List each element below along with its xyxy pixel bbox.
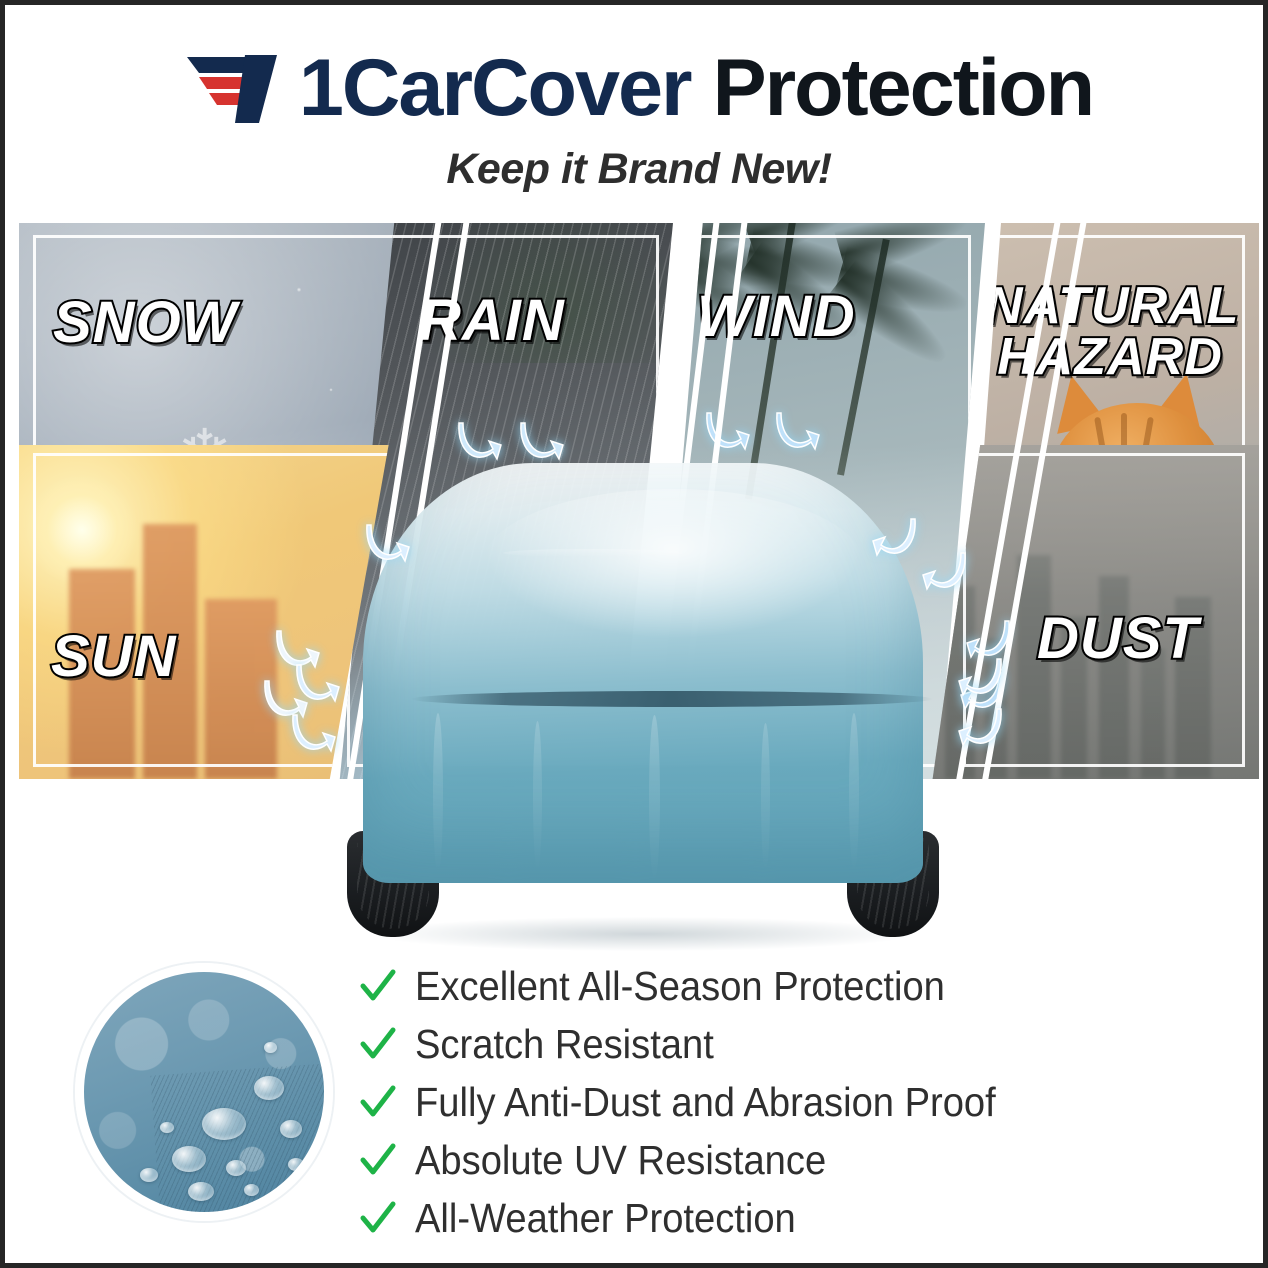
feature-text: All-Weather Protection — [415, 1198, 796, 1239]
list-item: Fully Anti-Dust and Abrasion Proof — [355, 1073, 1175, 1131]
feature-text: Scratch Resistant — [415, 1024, 714, 1065]
fabric-weave — [150, 1061, 333, 1221]
car-shadow — [375, 917, 911, 951]
cover-sheen — [483, 489, 863, 639]
feature-text: Absolute UV Resistance — [415, 1140, 826, 1181]
feature-text: Fully Anti-Dust and Abrasion Proof — [415, 1082, 996, 1123]
deflection-arrow-icon — [361, 521, 411, 573]
green-check-icon — [355, 1025, 401, 1063]
panel-label-rain: RAIN — [419, 293, 565, 350]
list-item: All-Weather Protection — [355, 1189, 1175, 1247]
green-check-icon — [355, 1141, 401, 1179]
deflection-arrow-icon — [921, 549, 971, 601]
green-check-icon — [355, 1083, 401, 1121]
deflection-arrow-icon — [287, 711, 337, 763]
panel-label-dust: DUST — [1037, 611, 1199, 668]
brand-name: 1CarCover — [299, 48, 691, 129]
cover-seam — [411, 691, 933, 707]
green-check-icon — [355, 967, 401, 1005]
carcover-wing-logo-icon — [185, 51, 285, 125]
car-cover-body — [363, 463, 923, 883]
deflection-arrow-icon — [957, 705, 1007, 757]
header: 1CarCover Protection — [5, 33, 1268, 143]
panel-label-sun: SUN — [51, 629, 176, 686]
deflection-arrow-icon — [291, 661, 341, 713]
deflection-arrow-icon — [957, 655, 1007, 707]
palm-tree-icon — [669, 229, 676, 479]
product-infographic: 1CarCover Protection Keep it Brand New! … — [0, 0, 1268, 1268]
water-bead-fabric-icon — [75, 963, 333, 1221]
panel-label-natural-hazard: NATURAL HAZARD — [985, 281, 1235, 383]
list-item: Absolute UV Resistance — [355, 1131, 1175, 1189]
headline-word: Protection — [713, 48, 1094, 129]
panel-label-wind: WIND — [697, 289, 856, 346]
green-check-icon — [355, 1199, 401, 1237]
list-item: Excellent All-Season Protection — [355, 957, 1175, 1015]
deflection-arrow-icon — [871, 515, 921, 567]
panel-label-snow: SNOW — [53, 295, 237, 352]
covered-car-icon — [335, 445, 951, 945]
brand-title: 1CarCover Protection — [299, 48, 1093, 129]
feature-list: Excellent All-Season Protection Scratch … — [355, 957, 1175, 1247]
feature-text: Excellent All-Season Protection — [415, 966, 945, 1007]
tagline: Keep it Brand New! — [5, 145, 1268, 194]
list-item: Scratch Resistant — [355, 1015, 1175, 1073]
